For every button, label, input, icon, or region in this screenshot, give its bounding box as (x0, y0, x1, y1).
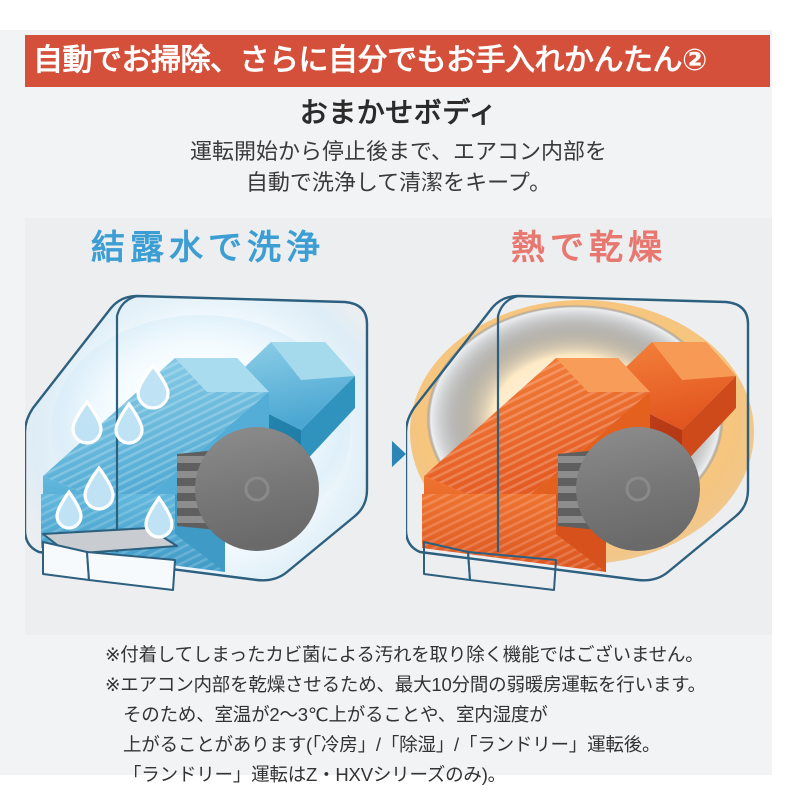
flow-arrow (391, 424, 406, 484)
footnote-line: 上がることがあります(「冷房」/「除湿」/「ランドリー」運転後。 (105, 730, 758, 760)
page-root: 自動でお掃除、さらに自分でもお手入れかんたん② おまかせボディ 運転開始から停止… (0, 0, 801, 801)
illustration-band: 結露水で洗浄 (25, 218, 772, 635)
page-subtitle-line-1: 運転開始から停止後まで、エアコン内部を (25, 136, 772, 167)
footnote-line: 「ランドリー」運転はZ・HXVシリーズのみ)。 (105, 760, 758, 790)
panel-heating-heading: 熱で乾燥 (406, 230, 772, 267)
panel-heating: 熱で乾燥 (406, 218, 772, 635)
panel-cooling-heading: 結露水で洗浄 (25, 230, 391, 267)
triangle-right-icon (392, 441, 406, 467)
air-conditioner-heating-illustration (406, 280, 772, 630)
header-banner: 自動でお掃除、さらに自分でもお手入れかんたん② (25, 35, 770, 87)
header-banner-title: 自動でお掃除、さらに自分でもお手入れかんたん② (33, 46, 707, 76)
panel-cooling: 結露水で洗浄 (25, 218, 391, 635)
footnote-line: そのため、室温が2〜3℃上がることや、室内湿度が (105, 700, 758, 730)
page-title: おまかせボディ (25, 95, 772, 130)
page-subtitle-line-2: 自動で洗浄して清潔をキープ。 (25, 167, 772, 198)
footnote-line: ※付着してしまったカビ菌による汚れを取り除く機能ではございません。 (105, 640, 758, 670)
headline-block: おまかせボディ 運転開始から停止後まで、エアコン内部を 自動で洗浄して清潔をキー… (25, 95, 772, 198)
footnote-line: ※エアコン内部を乾燥させるため、最大10分間の弱暖房運転を行います。 (105, 670, 758, 700)
air-conditioner-cooling-illustration (25, 280, 391, 630)
footnotes: ※付着してしまったカビ菌による汚れを取り除く機能ではございません。 ※エアコン内… (25, 640, 772, 790)
